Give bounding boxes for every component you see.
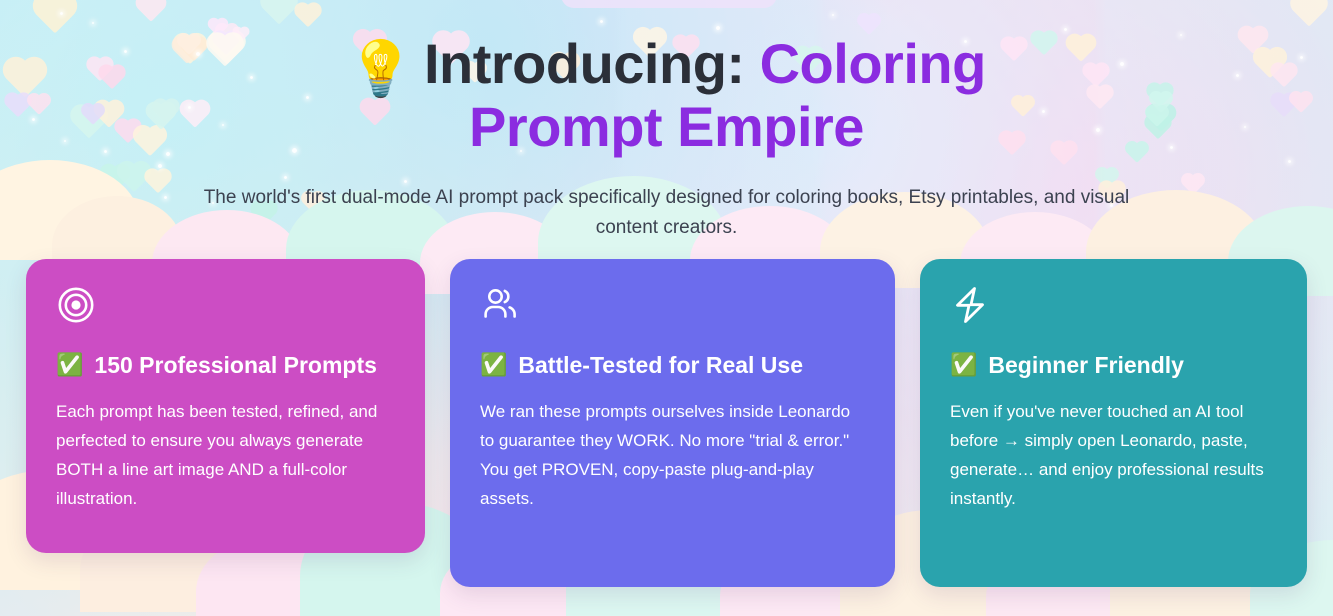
feature-card-body: We ran these prompts ourselves inside Le…: [480, 397, 865, 513]
light-bulb-icon: 💡: [347, 39, 414, 99]
target-bullseye-icon: [56, 285, 96, 325]
feature-card-beginner-friendly[interactable]: ✅ Beginner Friendly Even if you've never…: [920, 259, 1307, 587]
check-mark-icon: ✅: [950, 354, 977, 376]
page-title-prefix: Introducing:: [424, 32, 745, 95]
page-subtitle: The world's first dual-mode AI prompt pa…: [0, 183, 1333, 243]
users-people-icon: [480, 285, 520, 325]
check-mark-icon: ✅: [480, 354, 507, 376]
feature-card-heading-text: Battle-Tested for Real Use: [518, 351, 803, 379]
feature-card-body: Each prompt has been tested, refined, an…: [56, 397, 395, 513]
page-title-accent: Coloring: [760, 32, 986, 95]
feature-card-heading: ✅ Beginner Friendly: [950, 351, 1277, 379]
feature-card-heading-text: 150 Professional Prompts: [94, 351, 377, 379]
feature-card-heading: ✅ 150 Professional Prompts: [56, 351, 395, 379]
page-title: 💡Introducing: Coloring: [0, 0, 1333, 99]
page-content: 💡Introducing: Coloring Prompt Empire The…: [0, 0, 1333, 243]
page-title-line-two: Prompt Empire: [0, 97, 1333, 157]
feature-card-list: ✅ 150 Professional Prompts Each prompt h…: [0, 259, 1333, 589]
check-mark-icon: ✅: [56, 354, 83, 376]
feature-card-heading: ✅ Battle-Tested for Real Use: [480, 351, 865, 379]
feature-card-battle-tested[interactable]: ✅ Battle-Tested for Real Use We ran thes…: [450, 259, 895, 587]
lightning-bolt-zap-icon: [950, 285, 990, 325]
feature-card-body: Even if you've never touched an AI tool …: [950, 397, 1277, 513]
feature-card-prompts[interactable]: ✅ 150 Professional Prompts Each prompt h…: [26, 259, 425, 553]
feature-card-heading-text: Beginner Friendly: [988, 351, 1184, 379]
